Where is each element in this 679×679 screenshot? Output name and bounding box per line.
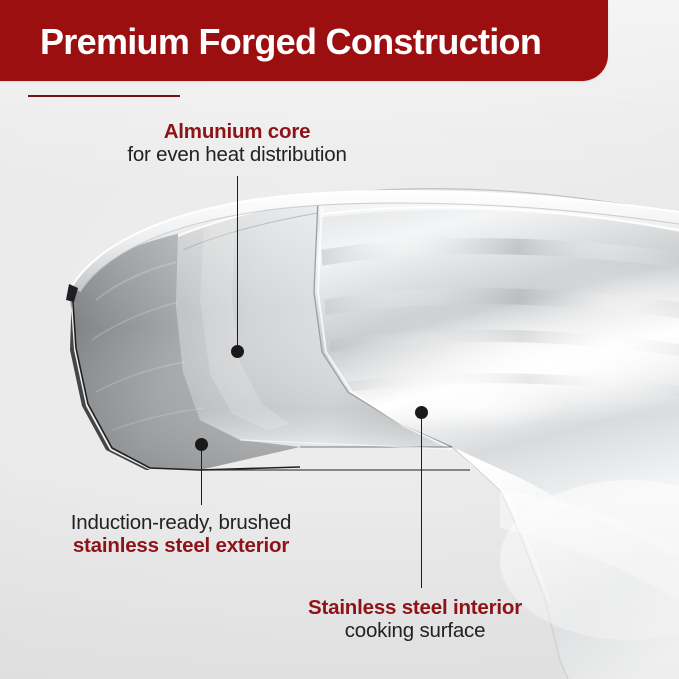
callout-dot-aluminium-core bbox=[231, 345, 244, 358]
infographic-page: Premium Forged Construction Almunium cor… bbox=[0, 0, 679, 679]
callout-dot-exterior bbox=[195, 438, 208, 451]
label-exterior-line2: stainless steel exterior bbox=[20, 534, 342, 557]
label-exterior-line1: Induction-ready, brushed bbox=[20, 511, 342, 534]
callout-leader-line-aluminium-core bbox=[237, 176, 239, 351]
label-aluminium-core-line2: for even heat distribution bbox=[37, 143, 437, 166]
label-interior-line1: Stainless steel interior bbox=[255, 596, 575, 619]
label-aluminium-core: Almunium core for even heat distribution bbox=[37, 120, 437, 166]
callout-leader-line-exterior bbox=[201, 444, 203, 505]
callout-leader-line-interior bbox=[421, 412, 423, 588]
background-vignette bbox=[0, 0, 679, 679]
label-interior-line2: cooking surface bbox=[255, 619, 575, 642]
page-title: Premium Forged Construction bbox=[40, 22, 600, 62]
label-aluminium-core-line1: Almunium core bbox=[37, 120, 437, 143]
label-stainless-steel-exterior: Induction-ready, brushed stainless steel… bbox=[20, 511, 342, 557]
title-underline-rule bbox=[28, 95, 180, 97]
label-stainless-steel-interior: Stainless steel interior cooking surface bbox=[255, 596, 575, 642]
callout-dot-interior bbox=[415, 406, 428, 419]
